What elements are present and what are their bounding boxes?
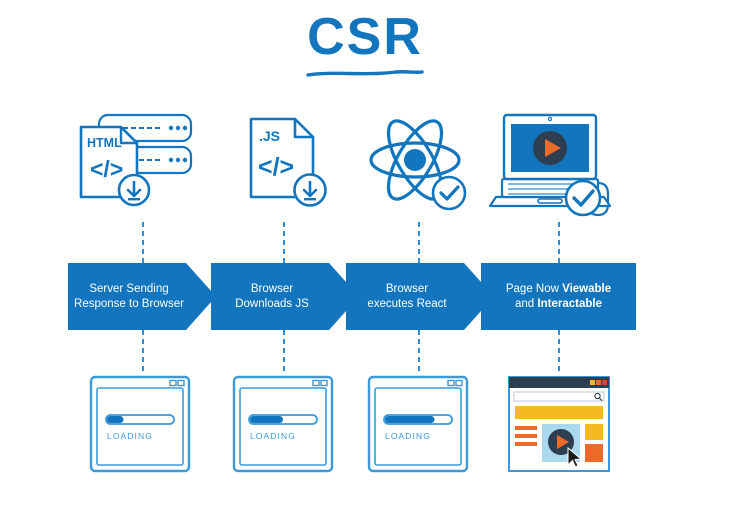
react-atom-check-icon	[340, 105, 500, 220]
address-bar	[514, 392, 604, 401]
banner-server-sending: Server Sending Response to Browser	[68, 263, 216, 330]
connector-dashed-bottom	[558, 330, 560, 372]
progress-fill	[107, 416, 124, 423]
browser-window-loading-3: LOADING	[366, 374, 470, 474]
react-nucleus	[404, 149, 426, 171]
content-bar	[515, 442, 537, 446]
banner-text: Browser executes React	[361, 282, 452, 312]
connector-dashed-bottom	[142, 330, 144, 372]
content-bar	[515, 434, 537, 438]
connector-dashed-bottom	[418, 330, 420, 372]
banner-page-viewable-interactable: Page Now Viewable and Interactable	[481, 263, 636, 330]
download-badge-icon	[295, 175, 326, 206]
browser-window-loading-2: LOADING	[231, 374, 335, 474]
window-dot-red	[602, 380, 607, 385]
step-column-browser-executes-react: Browser executes React LOADING	[340, 0, 500, 515]
browser-window-loading-1: LOADING	[88, 374, 192, 474]
banner-text: Browser Downloads JS	[229, 282, 315, 312]
download-badge-icon	[119, 175, 149, 205]
loading-label: LOADING	[250, 431, 296, 441]
content-bar	[515, 426, 537, 430]
connector-dashed-top	[283, 222, 285, 264]
csr-diagram: CSR	[0, 0, 730, 515]
loading-label: LOADING	[385, 431, 431, 441]
banner-browser-executes-react: Browser executes React	[346, 263, 494, 330]
connector-dashed-top	[142, 222, 144, 264]
content-banner-yellow	[515, 406, 603, 419]
window-dot-orange	[596, 380, 601, 385]
js-file-label: .JS	[259, 128, 280, 144]
banner-browser-downloads-js: Browser Downloads JS	[211, 263, 359, 330]
connector-dashed-top	[558, 222, 560, 264]
js-code-glyph: </>	[258, 153, 294, 181]
check-badge-icon	[433, 177, 465, 209]
laptop-play-check-mouse-icon	[478, 105, 638, 220]
html-file-label: HTML	[87, 136, 122, 150]
loading-label: LOADING	[107, 431, 153, 441]
step-column-page-viewable: Page Now Viewable and Interactable	[478, 0, 638, 515]
server-html-download-icon: HTML </>	[62, 105, 222, 220]
banner-text: Server Sending Response to Browser	[68, 282, 190, 312]
connector-dashed-top	[418, 222, 420, 264]
check-badge-icon	[566, 181, 600, 215]
connector-dashed-bottom	[283, 330, 285, 372]
content-block-yellow	[585, 424, 603, 440]
content-block-orange	[585, 444, 603, 462]
banner-text: Page Now Viewable and Interactable	[500, 282, 617, 312]
html-code-glyph: </>	[90, 156, 123, 182]
progress-fill	[385, 416, 435, 423]
browser-window-rendered	[506, 374, 614, 476]
step-column-server-sending: HTML </> Server Sending Response to Brow…	[62, 0, 222, 515]
progress-fill	[250, 416, 283, 423]
window-dot-yellow	[590, 380, 595, 385]
